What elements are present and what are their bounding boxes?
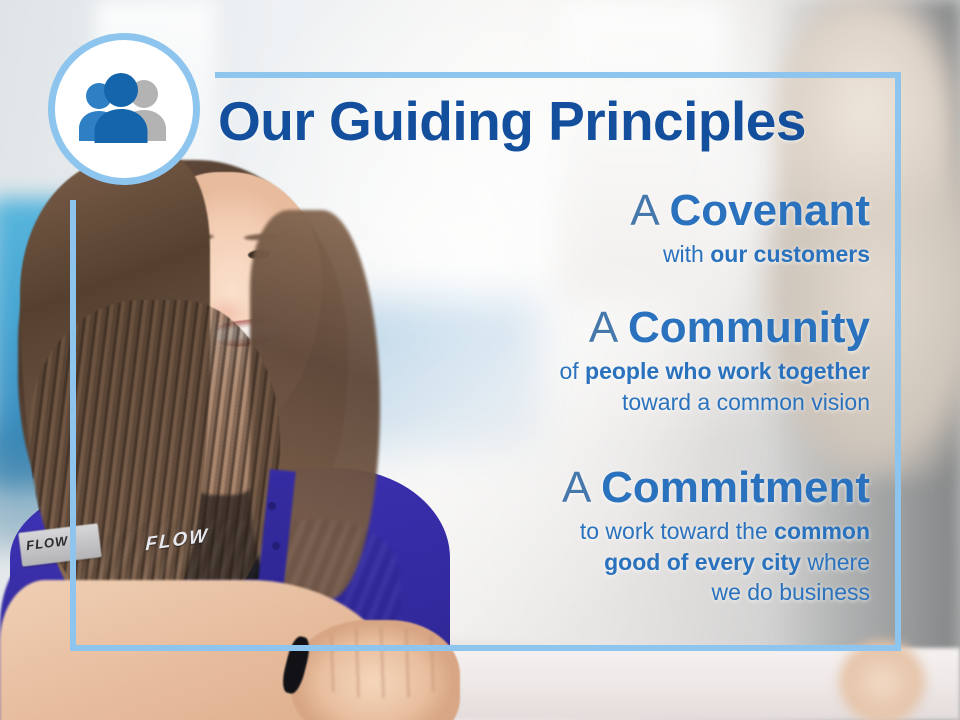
principle-word: Commitment xyxy=(601,463,870,512)
principle-subtext-line: of people who work together xyxy=(300,356,870,386)
principle-subtext-line: to work toward the common xyxy=(300,516,870,546)
people-group-badge xyxy=(48,33,200,185)
subtext-emphasis: common xyxy=(774,518,870,544)
subtext-emphasis: good of every city xyxy=(604,549,801,575)
guiding-principles-graphic: FLOW FLOW Our Guiding xyxy=(0,0,960,720)
principle-article: A xyxy=(562,463,589,512)
shirt-button xyxy=(268,502,276,510)
principle-subtext-line: we do business xyxy=(300,577,870,607)
principle-word: Community xyxy=(628,303,870,352)
principle-subtext: with our customers xyxy=(300,239,870,269)
frame-left-edge xyxy=(70,200,76,651)
frame-bottom-edge xyxy=(70,645,901,651)
principle-heading: A Community xyxy=(300,303,870,352)
page-title: Our Guiding Principles xyxy=(218,93,878,151)
subtext-plain: we do business xyxy=(711,579,870,605)
principle-article: A xyxy=(630,186,657,235)
fingers xyxy=(310,628,455,698)
shirt-button xyxy=(272,542,280,550)
principle-article: A xyxy=(589,303,616,352)
principle-heading: A Commitment xyxy=(300,463,870,512)
subtext-plain: of xyxy=(559,358,585,384)
principle-heading: A Covenant xyxy=(300,186,870,235)
subtext-emphasis: people who work together xyxy=(585,358,870,384)
principle-subtext-line: toward a common vision xyxy=(300,387,870,417)
frame-top-edge xyxy=(215,72,901,78)
subtext-plain: where xyxy=(801,549,870,575)
background-person-hand xyxy=(820,630,950,720)
principle-community: A Community of people who work togethert… xyxy=(300,303,870,417)
subtext-plain: toward a common vision xyxy=(622,389,870,415)
subtext-emphasis: our customers xyxy=(710,241,870,267)
principle-word: Covenant xyxy=(670,186,870,235)
principle-subtext: of people who work togethertoward a comm… xyxy=(300,356,870,417)
principle-commitment: A Commitment to work toward the commongo… xyxy=(300,463,870,607)
people-group-icon xyxy=(72,72,176,146)
subtext-plain: to work toward the xyxy=(580,518,774,544)
frame-right-edge xyxy=(895,72,901,651)
principle-subtext-line: good of every city where xyxy=(300,547,870,577)
principle-covenant: A Covenant with our customers xyxy=(300,186,870,270)
subtext-plain: with xyxy=(663,241,710,267)
principle-subtext-line: with our customers xyxy=(300,239,870,269)
principle-subtext: to work toward the commongood of every c… xyxy=(300,516,870,607)
